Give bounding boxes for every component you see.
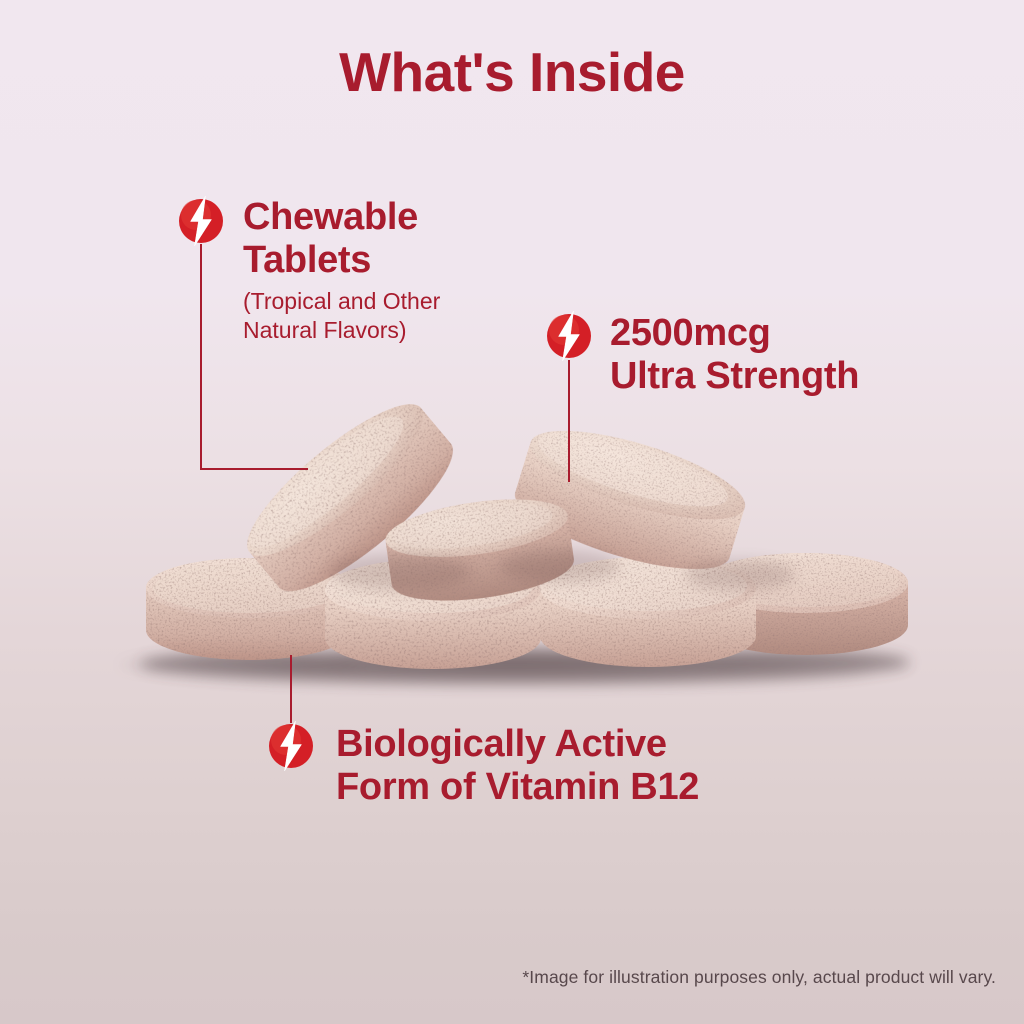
callout-biologically-active-heading: Biologically Active Form of Vitamin B12 — [336, 723, 876, 808]
pile-contact-shadow — [140, 650, 910, 684]
product-image — [0, 0, 1024, 1024]
tablet-pile-illustration — [0, 0, 1024, 1024]
leader-line-chewable-vertical — [200, 244, 202, 470]
callout-chewable-tablets: Chewable Tablets (Tropical and Other Nat… — [243, 196, 543, 345]
leader-line-chewable-horizontal — [200, 468, 308, 470]
page-title: What's Inside — [0, 44, 1024, 102]
tablet-bottom-center-left — [325, 559, 541, 669]
tablet-tilted-center — [382, 490, 578, 611]
leader-line-biologically-active — [290, 655, 292, 723]
callout-chewable-tablets-subtext: (Tropical and Other Natural Flavors) — [243, 287, 543, 345]
pile-ground-shadow — [120, 645, 910, 685]
pile-ambient-occlusion — [330, 550, 795, 590]
callout-biologically-active: Biologically Active Form of Vitamin B12 — [336, 723, 876, 808]
disclaimer-text: *Image for illustration purposes only, a… — [522, 967, 996, 988]
callout-ultra-strength-heading: 2500mcg Ultra Strength — [610, 312, 1010, 397]
tablet-tilted-right — [506, 413, 754, 588]
callout-chewable-tablets-heading: Chewable Tablets — [243, 196, 543, 281]
callout-ultra-strength: 2500mcg Ultra Strength — [610, 312, 1010, 397]
lightning-bolt-icon — [178, 198, 224, 244]
infographic-canvas: What's Inside — [0, 0, 1024, 1024]
tablet-tilted-left — [230, 384, 471, 611]
lightning-bolt-icon — [268, 723, 314, 769]
tablet-bottom-right — [702, 553, 908, 655]
tablet-bottom-left — [146, 558, 352, 660]
tablet-bottom-center-right — [540, 557, 756, 667]
leader-line-ultra-strength — [568, 360, 570, 482]
lightning-bolt-icon — [546, 313, 592, 359]
